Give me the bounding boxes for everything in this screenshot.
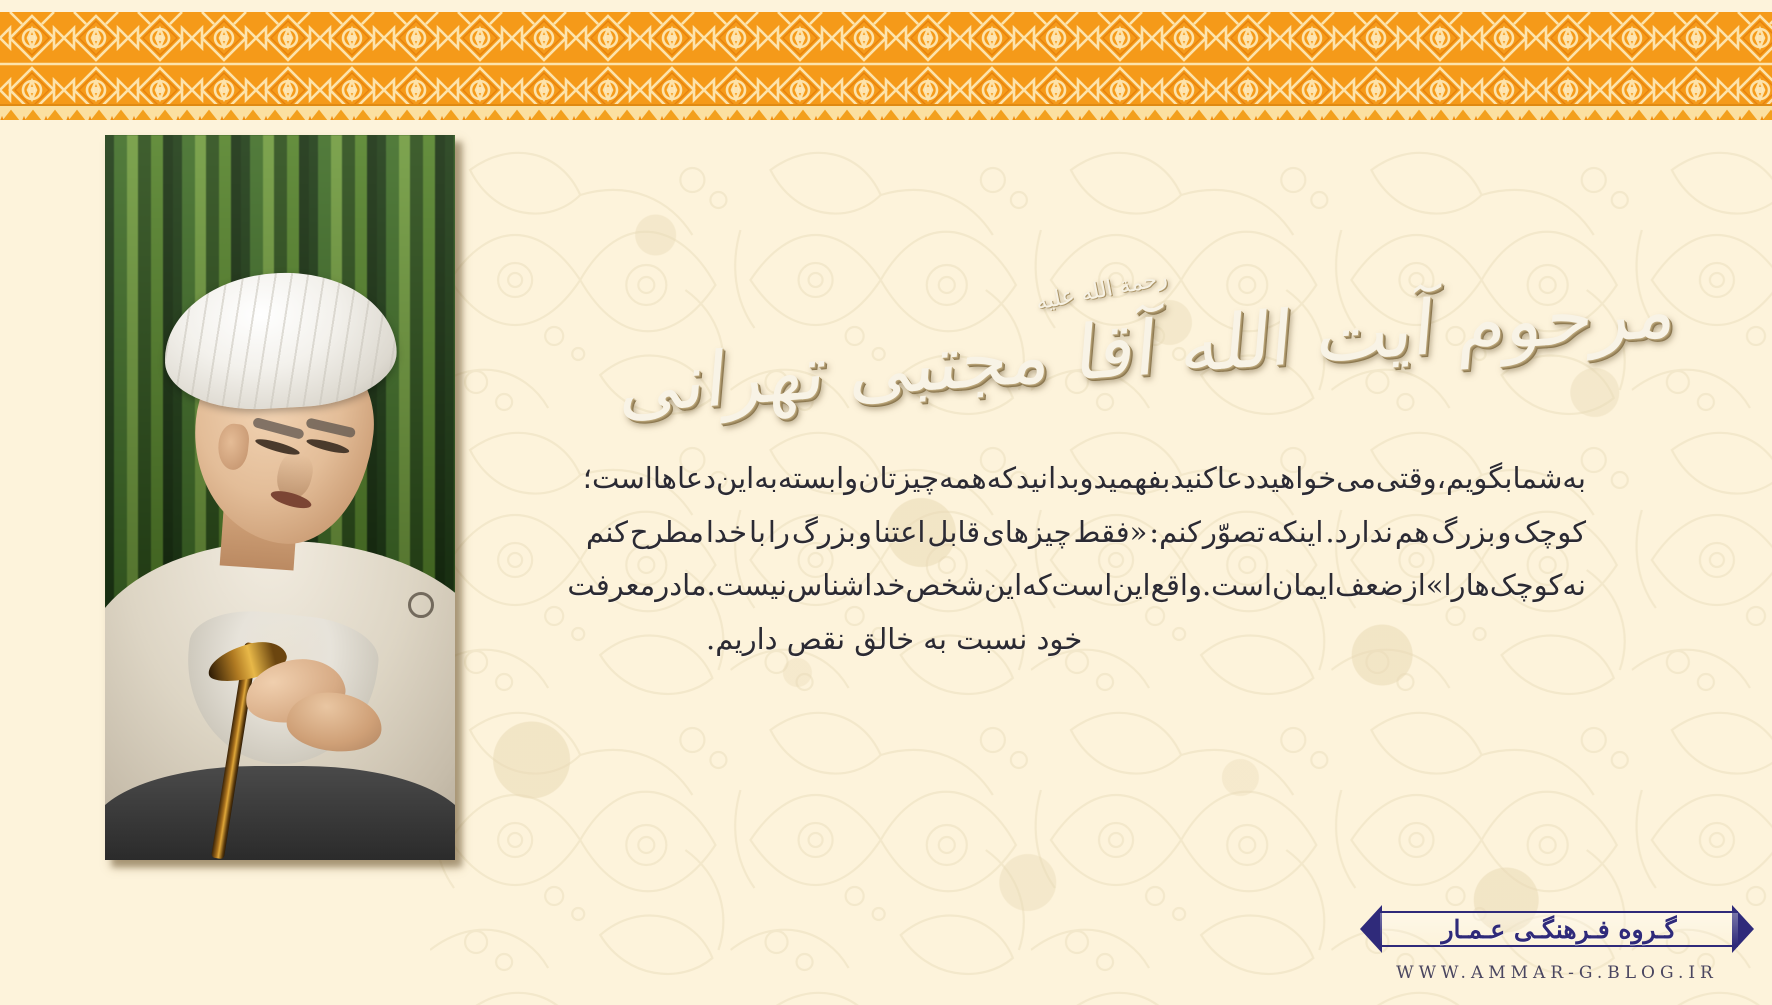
eyebrow-right xyxy=(306,417,357,438)
site-logo[interactable]: گـروه فـرهنگـی عـمـار WWW.AMMAR-G.BLOG.I… xyxy=(1358,897,1756,985)
title-block: مرحوم آیت الله آقا مجتبی تهرانی رحمة الل… xyxy=(917,262,1677,402)
quote-line-2: کوچکوبزرگهمندارد.اینکهتصوّرکنم:«فقطچیزها… xyxy=(586,506,1586,560)
lap xyxy=(105,766,455,860)
poster-canvas: مرحوم آیت الله آقا مجتبی تهرانی رحمة الل… xyxy=(0,0,1772,1005)
quote-line-3: نهکوچک‌هارا»ازضعفایماناست.واقعایناستکهای… xyxy=(586,559,1586,613)
quote-line-1: بهشمابگویم،وقتیمی‌خواهیددعاکنیدبفهمیدوبد… xyxy=(586,452,1586,506)
border-scallop-strip xyxy=(0,104,1772,120)
eyeglasses-icon xyxy=(408,592,434,618)
site-url[interactable]: WWW.AMMAR-G.BLOG.IR xyxy=(1358,963,1756,983)
quote-text: بهشمابگویم،وقتیمی‌خواهیددعاکنیدبفهمیدوبد… xyxy=(586,452,1586,667)
logo-bar: گـروه فـرهنگـی عـمـار xyxy=(1380,911,1738,947)
ornamental-top-border xyxy=(0,12,1772,120)
logo-cap-left-icon xyxy=(1360,905,1382,953)
portrait-photo xyxy=(105,135,455,860)
logo-label: گـروه فـرهنگـی عـمـار xyxy=(1441,915,1676,944)
quote-line-4: خود نسبت به خالق نقص داریم. xyxy=(586,613,1586,667)
eye-right xyxy=(306,436,351,455)
ear xyxy=(216,422,251,471)
eyebrow-left xyxy=(252,417,305,440)
